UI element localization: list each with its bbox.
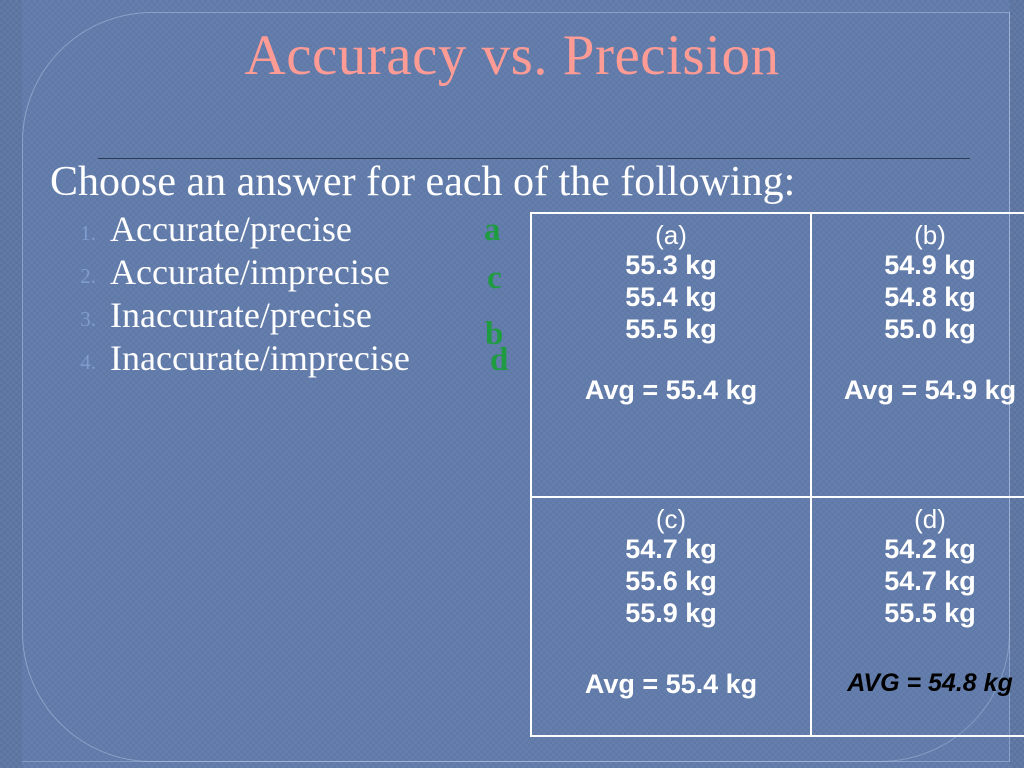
- slide-title: Accuracy vs. Precision: [0, 26, 1024, 86]
- table-cell-c[interactable]: (c) 54.7 kg 55.6 kg 55.9 kg Avg = 55.4 k…: [531, 497, 811, 736]
- cell-measurement: 55.3 kg: [540, 250, 802, 282]
- cell-label: (d): [820, 504, 1024, 534]
- list-item-number: 4.: [54, 337, 96, 387]
- cell-spacer: [820, 345, 1024, 375]
- table-cell-b[interactable]: (b) 54.9 kg 54.8 kg 55.0 kg Avg = 54.9 k…: [811, 213, 1024, 497]
- cell-average-emphasis: AVG = 54.8 kg: [820, 669, 1024, 698]
- slide-canvas: Accuracy vs. Precision Choose an answer …: [0, 0, 1024, 768]
- cell-average: Avg = 55.4 kg: [540, 669, 802, 701]
- answer-key-letter-4: d: [490, 344, 508, 377]
- cell-label: (b): [820, 220, 1024, 250]
- cell-measurement: 54.8 kg: [820, 282, 1024, 314]
- cell-measurement: 55.5 kg: [540, 314, 802, 346]
- answer-key-letter-2: c: [487, 262, 502, 295]
- list-item-label: Inaccurate/precise: [110, 294, 372, 337]
- table-cell-d[interactable]: (d) 54.2 kg 54.7 kg 55.5 kg AVG = 54.8 k…: [811, 497, 1024, 736]
- list-item[interactable]: 4. Inaccurate/imprecise: [50, 337, 520, 380]
- cell-spacer: [540, 629, 802, 659]
- cell-measurement: 55.6 kg: [540, 566, 802, 598]
- cell-average: Avg = 55.4 kg: [540, 375, 802, 407]
- cell-measurement: 54.7 kg: [540, 534, 802, 566]
- cell-label: (a): [540, 220, 802, 250]
- cell-spacer-short: [540, 659, 802, 669]
- cell-spacer-short: [820, 659, 1024, 669]
- cell-average: Avg = 54.9 kg: [820, 375, 1024, 407]
- table-row: (c) 54.7 kg 55.6 kg 55.9 kg Avg = 55.4 k…: [531, 497, 1024, 736]
- list-item-label: Accurate/imprecise: [110, 251, 390, 294]
- list-item[interactable]: 3. Inaccurate/precise: [50, 294, 520, 337]
- cell-measurement: 55.0 kg: [820, 314, 1024, 346]
- list-item-label: Accurate/precise: [110, 208, 352, 251]
- measurement-data-table: (a) 55.3 kg 55.4 kg 55.5 kg Avg = 55.4 k…: [530, 212, 1024, 737]
- left-edge-strip: [0, 0, 22, 768]
- cell-spacer: [540, 345, 802, 375]
- answer-options-list: 1. Accurate/precise 2. Accurate/imprecis…: [50, 208, 520, 380]
- cell-measurement: 55.4 kg: [540, 282, 802, 314]
- list-item-label: Inaccurate/imprecise: [110, 337, 410, 380]
- cell-measurement: 55.5 kg: [820, 598, 1024, 630]
- table-cell-a[interactable]: (a) 55.3 kg 55.4 kg 55.5 kg Avg = 55.4 k…: [531, 213, 811, 497]
- cell-spacer: [820, 629, 1024, 659]
- cell-measurement: 54.9 kg: [820, 250, 1024, 282]
- cell-measurement: 54.7 kg: [820, 566, 1024, 598]
- cell-measurement: 54.2 kg: [820, 534, 1024, 566]
- prompt-text: Choose an answer for each of the followi…: [50, 160, 795, 205]
- answer-key-letter-1: a: [484, 214, 501, 247]
- cell-label: (c): [540, 504, 802, 534]
- list-item[interactable]: 2. Accurate/imprecise: [50, 251, 520, 294]
- table-row: (a) 55.3 kg 55.4 kg 55.5 kg Avg = 55.4 k…: [531, 213, 1024, 497]
- cell-measurement: 55.9 kg: [540, 598, 802, 630]
- list-item[interactable]: 1. Accurate/precise: [50, 208, 520, 251]
